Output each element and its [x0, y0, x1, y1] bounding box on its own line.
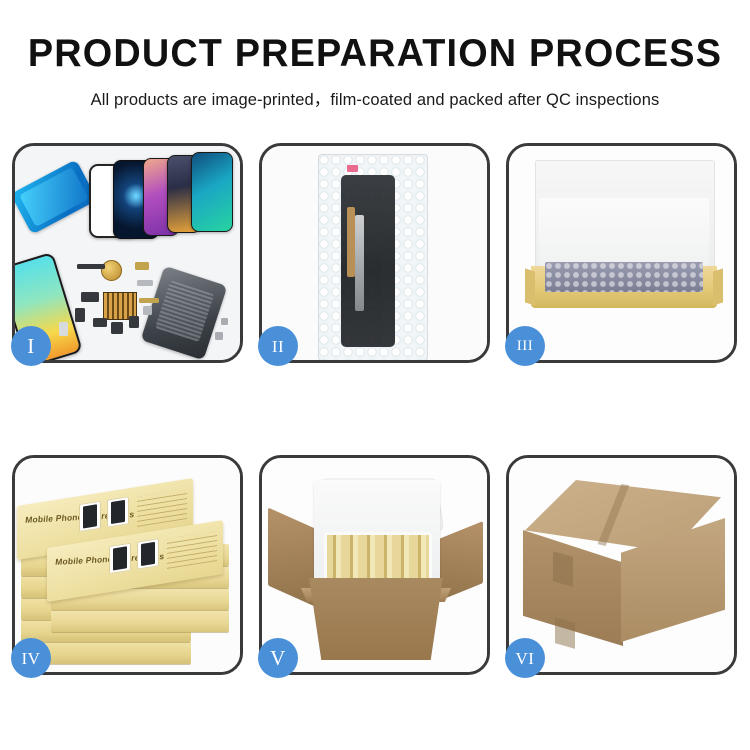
step-image-2	[262, 146, 487, 360]
foam-sheet	[539, 198, 709, 272]
box-product-photo	[107, 496, 129, 527]
step-panel-2[interactable]: II	[259, 143, 490, 363]
flex-cable	[347, 207, 355, 277]
box-spec-text-lines	[167, 531, 217, 569]
small-part	[135, 262, 149, 270]
small-part	[139, 298, 159, 303]
box-product-photo	[79, 501, 101, 532]
page-title: PRODUCT PREPARATION PROCESS	[11, 34, 739, 73]
small-part	[59, 322, 68, 336]
small-part	[221, 318, 228, 325]
box-product-photo	[137, 538, 159, 569]
phone-open-chassis	[141, 266, 228, 360]
step-badge-6: VI	[505, 638, 545, 678]
step-badge-5: V	[258, 638, 298, 678]
small-part	[81, 292, 99, 302]
small-part	[93, 318, 107, 327]
step-badge-1: I	[11, 326, 51, 366]
step-badge-4: IV	[11, 638, 51, 678]
process-steps-grid: I II III	[12, 143, 738, 675]
small-part	[137, 280, 153, 286]
small-part	[129, 316, 139, 328]
step-panel-1[interactable]: I	[12, 143, 243, 363]
step-image-6	[509, 458, 734, 672]
carton-tape-lower	[555, 617, 575, 649]
step-badge-2: II	[258, 326, 298, 366]
box-spec-text-lines	[137, 489, 187, 527]
packed-retail-boxes	[324, 532, 432, 582]
step-image-3	[509, 146, 734, 360]
step-image-5	[262, 458, 487, 672]
step-panel-5[interactable]: V	[259, 455, 490, 675]
bubble-wrap-bag	[318, 154, 428, 360]
step-badge-3: III	[505, 326, 545, 366]
step-image-4: Mobile Phone Spare Parts Mobile Phone Sp…	[15, 458, 240, 672]
bubble-wrap-filling	[545, 262, 703, 292]
carton-tape-upper	[553, 551, 573, 587]
small-part	[215, 332, 223, 340]
small-part	[143, 306, 152, 315]
page-header: PRODUCT PREPARATION PROCESS All products…	[0, 0, 750, 110]
carton-body	[300, 578, 452, 660]
small-part	[77, 264, 105, 269]
page-subtitle: All products are image-printed，film-coat…	[0, 86, 750, 110]
qc-sticker	[347, 165, 358, 172]
step-panel-4[interactable]: Mobile Phone Spare Parts Mobile Phone Sp…	[12, 455, 243, 675]
phone-teal-gradient	[191, 152, 233, 232]
step-image-1	[15, 146, 240, 360]
step-panel-6[interactable]: VI	[506, 455, 737, 675]
vibration-motor-part	[101, 260, 122, 281]
retail-box-layer	[51, 610, 229, 632]
small-part	[75, 308, 85, 322]
box-product-photo	[109, 543, 131, 574]
step-panel-3[interactable]: III	[506, 143, 737, 363]
phone-back-cyan	[15, 159, 97, 234]
small-part	[111, 322, 123, 334]
